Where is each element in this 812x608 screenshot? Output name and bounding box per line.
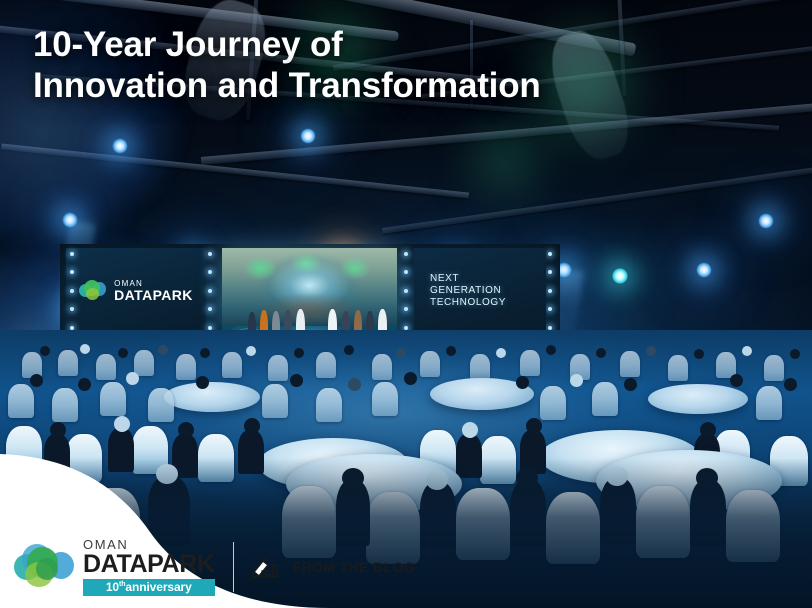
writing-hand-icon bbox=[250, 553, 282, 581]
stage-tagline: NEXT GENERATION TECHNOLOGY bbox=[430, 273, 506, 309]
audience-head bbox=[570, 374, 583, 387]
audience-chair bbox=[540, 386, 566, 420]
audience-head bbox=[596, 348, 606, 358]
stage-spotlight bbox=[112, 138, 128, 154]
audience-head bbox=[784, 378, 797, 391]
audience-head bbox=[290, 374, 303, 387]
page-title: 10-Year Journey of Innovation and Transf… bbox=[33, 24, 673, 106]
audience-head bbox=[294, 348, 304, 358]
blog-banner: OMAN DATAPARK NEXT GENERATION TECHNOLOGY bbox=[0, 0, 812, 608]
anniversary-number: 10 bbox=[106, 580, 119, 594]
audience-head bbox=[30, 374, 43, 387]
audience-chair bbox=[592, 382, 618, 416]
tagline-line-1: NEXT bbox=[430, 273, 459, 284]
banquet-table bbox=[164, 382, 260, 412]
audience-chair bbox=[96, 354, 116, 380]
audience-chair bbox=[620, 351, 640, 377]
audience-chair bbox=[52, 388, 78, 422]
from-the-blog-group[interactable]: FROM THE BLOG bbox=[250, 553, 416, 581]
audience-head bbox=[78, 378, 91, 391]
anniversary-badge: 10thanniversary bbox=[83, 579, 215, 596]
stage-spotlight bbox=[758, 213, 774, 229]
audience-chair bbox=[316, 352, 336, 378]
audience-chair bbox=[372, 382, 398, 416]
audience-chair bbox=[520, 350, 540, 376]
audience-head bbox=[158, 345, 168, 355]
audience-chair bbox=[8, 384, 34, 418]
audience-head bbox=[526, 418, 542, 434]
audience-head bbox=[546, 345, 556, 355]
audience-head bbox=[114, 416, 130, 432]
audience-chair bbox=[222, 352, 242, 378]
audience-head bbox=[196, 376, 209, 389]
audience-chair bbox=[316, 388, 342, 422]
audience-chair bbox=[134, 350, 154, 376]
audience-chair bbox=[100, 382, 126, 416]
audience-chair bbox=[262, 384, 288, 418]
audience-chair bbox=[372, 354, 392, 380]
audience-chair bbox=[268, 355, 288, 381]
audience-head bbox=[40, 346, 50, 356]
audience-head bbox=[516, 376, 529, 389]
stage-spotlight bbox=[696, 262, 712, 278]
audience-chair bbox=[756, 386, 782, 420]
audience-head bbox=[178, 422, 194, 438]
stage-wordmark: OMAN DATAPARK bbox=[114, 280, 193, 302]
from-the-blog-label: FROM THE BLOG bbox=[293, 559, 416, 575]
audience-head bbox=[246, 346, 256, 356]
tagline-line-3: TECHNOLOGY bbox=[430, 297, 506, 308]
audience-chair bbox=[420, 351, 440, 377]
audience-head bbox=[348, 378, 361, 391]
audience-head bbox=[80, 344, 90, 354]
oman-datapark-logo-icon bbox=[79, 280, 107, 302]
audience-chair bbox=[58, 350, 78, 376]
audience-head bbox=[344, 345, 354, 355]
footer-brand-bottom: DATAPARK bbox=[83, 552, 215, 577]
audience-chair bbox=[148, 388, 174, 422]
title-line-1: 10-Year Journey of bbox=[33, 24, 673, 65]
stage-tagline-panel: NEXT GENERATION TECHNOLOGY bbox=[414, 248, 546, 334]
anniversary-word: anniversary bbox=[125, 580, 191, 594]
audience-head bbox=[244, 418, 260, 434]
audience-head bbox=[118, 348, 128, 358]
footer-wordmark: OMAN DATAPARK 10thanniversary bbox=[83, 538, 215, 596]
audience-head bbox=[694, 349, 704, 359]
green-light-haze bbox=[460, 120, 550, 200]
audience-head bbox=[496, 348, 506, 358]
tagline-line-2: GENERATION bbox=[430, 285, 501, 296]
audience-head bbox=[790, 349, 800, 359]
stage-spotlight bbox=[300, 128, 316, 144]
audience-head bbox=[700, 422, 716, 438]
stage-brand-bottom: DATAPARK bbox=[114, 288, 193, 302]
stage-brand-panel: OMAN DATAPARK bbox=[66, 248, 206, 334]
audience-chair bbox=[764, 355, 784, 381]
audience-head bbox=[404, 372, 417, 385]
audience-chair bbox=[470, 354, 490, 380]
footer-divider bbox=[233, 542, 234, 592]
audience-chair bbox=[176, 354, 196, 380]
audience-head bbox=[200, 348, 210, 358]
audience-head bbox=[50, 422, 66, 438]
footer-branding: OMAN DATAPARK 10thanniversary FROM THE B… bbox=[14, 538, 415, 596]
title-line-2: Innovation and Transformation bbox=[33, 65, 673, 106]
audience-head bbox=[446, 346, 456, 356]
oman-datapark-logo-icon bbox=[14, 542, 76, 592]
stage-spotlight bbox=[612, 268, 628, 284]
audience-head bbox=[126, 372, 139, 385]
audience-head bbox=[646, 346, 656, 356]
audience-chair bbox=[668, 355, 688, 381]
banquet-table bbox=[648, 384, 748, 414]
audience-head bbox=[730, 374, 743, 387]
audience-head bbox=[624, 378, 637, 391]
audience-head bbox=[396, 348, 406, 358]
audience-head bbox=[462, 422, 478, 438]
audience-head bbox=[742, 346, 752, 356]
